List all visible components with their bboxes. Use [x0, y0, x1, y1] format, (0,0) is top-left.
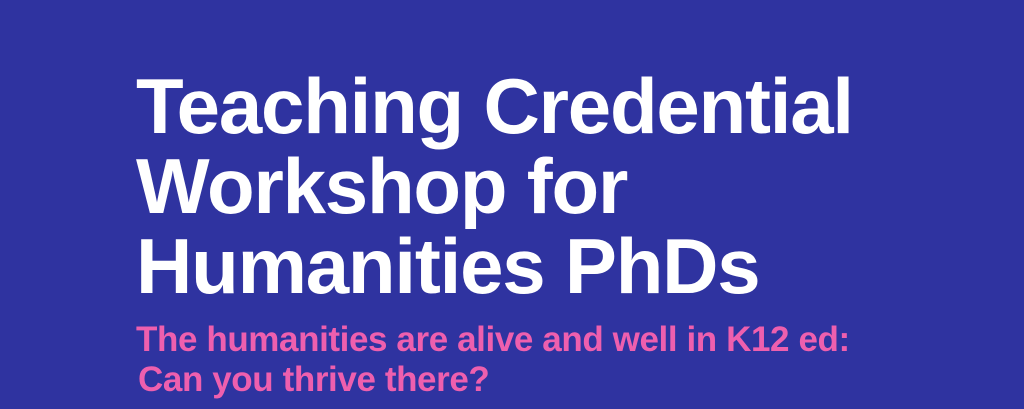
headline-line-2: Workshop for — [136, 146, 1024, 226]
headline-line-3: Humanities PhDs — [136, 226, 1024, 306]
subtitle-line-2: Can you thrive there? — [136, 360, 1024, 400]
promo-banner: Teaching Credential Workshop for Humanit… — [0, 0, 1024, 409]
subtitle-line-1: The humanities are alive and well in K12… — [136, 320, 1024, 360]
page-title: Teaching Credential Workshop for Humanit… — [136, 66, 1024, 306]
banner-text-block: Teaching Credential Workshop for Humanit… — [136, 66, 1024, 400]
headline-line-1: Teaching Credential — [136, 66, 1024, 146]
page-subtitle: The humanities are alive and well in K12… — [136, 320, 1024, 400]
